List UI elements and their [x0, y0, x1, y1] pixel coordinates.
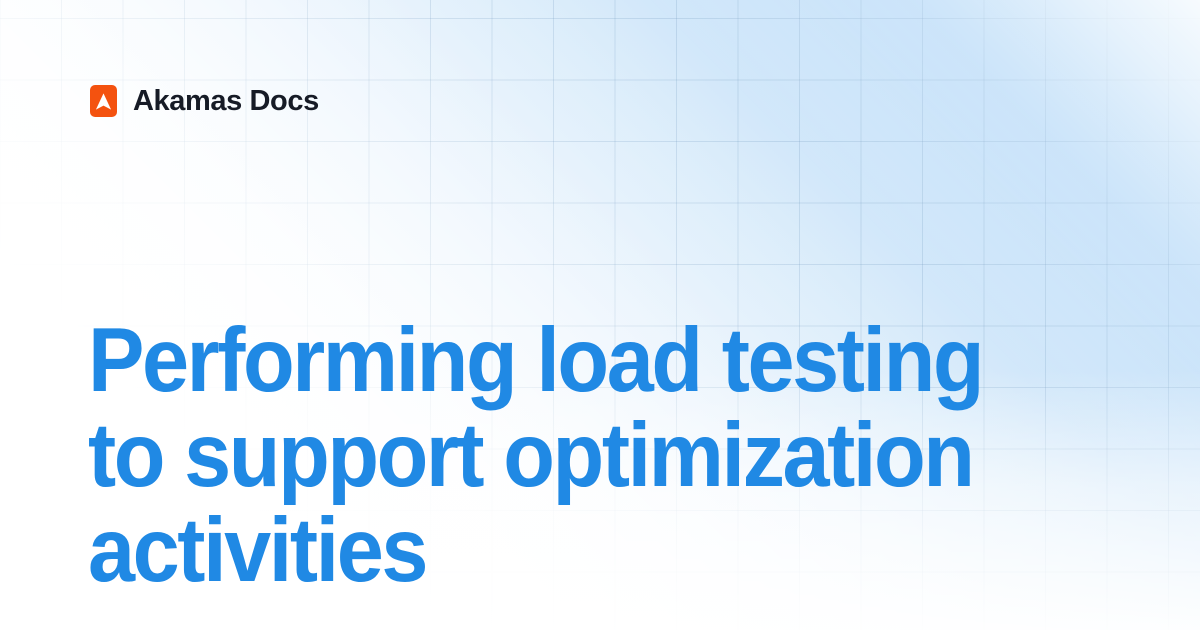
akamas-triangle-logo-icon — [90, 85, 117, 117]
brand-lockup: Akamas Docs — [90, 85, 319, 117]
og-preview-card: Akamas Docs Performing load testing to s… — [0, 0, 1200, 630]
page-title: Performing load testing to support optim… — [88, 313, 1046, 598]
card-content: Akamas Docs Performing load testing to s… — [0, 0, 1200, 630]
brand-name-label: Akamas Docs — [133, 87, 319, 116]
